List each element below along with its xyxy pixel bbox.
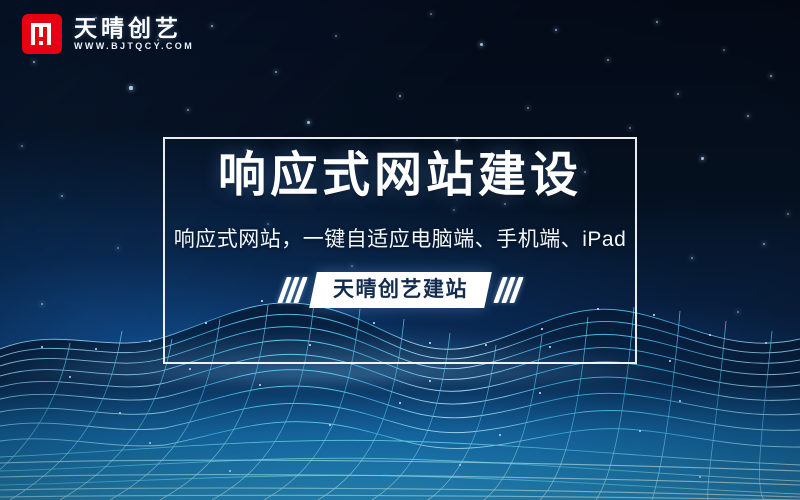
triple-slash-icon-right — [498, 277, 519, 303]
star-dot — [480, 43, 483, 46]
star-dot — [555, 29, 558, 32]
logo-text-block: 天晴创艺 WWW.BJTQCY.COM — [74, 17, 194, 51]
hero-subtitle: 响应式网站，一键自适应电脑端、手机端、iPad — [174, 227, 627, 252]
star-dot — [33, 61, 36, 64]
banner-canvas: 天晴创艺 WWW.BJTQCY.COM 响应式网站建设 响应式网站，一键自适应电… — [0, 0, 800, 500]
site-logo[interactable]: 天晴创艺 WWW.BJTQCY.COM — [22, 14, 194, 54]
star-dot — [656, 21, 659, 24]
star-dot — [335, 35, 337, 37]
page-title: 响应式网站建设 — [218, 150, 582, 203]
star-dot — [275, 71, 277, 73]
logo-brand-cn: 天晴创艺 — [74, 17, 194, 40]
triple-slash-icon-left — [282, 277, 303, 303]
star-dot — [399, 95, 402, 98]
hero-badge-row: 天晴创艺建站 — [282, 272, 519, 308]
star-dot — [629, 127, 631, 129]
brand-badge[interactable]: 天晴创艺建站 — [309, 272, 492, 308]
star-dot — [607, 59, 609, 61]
star-dot — [677, 93, 679, 95]
brand-badge-label: 天晴创艺建站 — [333, 277, 468, 303]
star-dot — [527, 107, 529, 109]
star-dot — [21, 145, 23, 147]
tqcy-monogram-icon — [22, 14, 62, 54]
star-dot — [307, 121, 310, 124]
star-dot — [723, 49, 725, 51]
star-dot — [187, 109, 189, 111]
star-dot — [770, 75, 773, 78]
star-dot — [211, 25, 214, 28]
star-dot — [747, 115, 749, 117]
star-dot — [129, 86, 132, 89]
hero-content: 响应式网站建设 响应式网站，一键自适应电脑端、手机端、iPad 天晴创艺建站 — [0, 150, 800, 308]
logo-brand-url: WWW.BJTQCY.COM — [74, 42, 194, 51]
star-dot — [430, 13, 432, 15]
